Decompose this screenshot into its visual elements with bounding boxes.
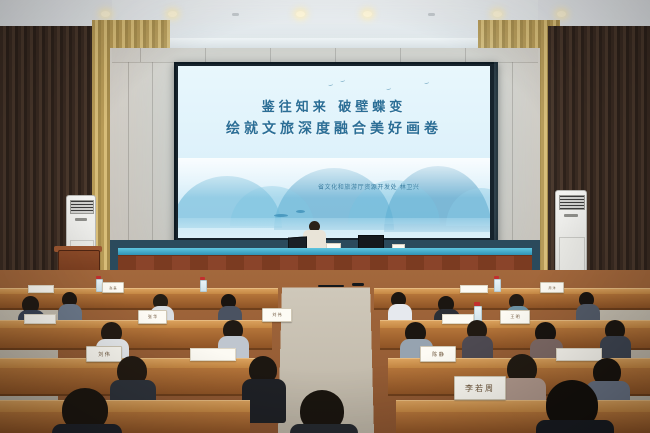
nameplate-row2-center: 刘 伟 — [262, 308, 292, 322]
nameplate-row3-right: 陈 静 — [420, 346, 456, 362]
nameplate-row2-right: 王 明 — [500, 310, 530, 324]
ceiling-panel — [112, 0, 538, 41]
water-bottle — [494, 279, 501, 292]
wall-seam — [140, 48, 141, 62]
wall-panel-right — [492, 48, 540, 263]
projection-screen[interactable]: 鉴往知来 破壁蝶变 绘就文旅深度融合美好画卷 省文化和旅游厅资源开发处 林卫兴 — [178, 66, 490, 238]
nameplate-text: 张 华 — [148, 314, 157, 320]
wall-seam — [335, 48, 336, 62]
ceiling-downlight-icon — [493, 11, 502, 17]
nameplate-text: 刘 伟 — [272, 312, 281, 318]
lecture-hall-photo: 鉴往知来 破壁蝶变 绘就文旅深度融合美好画卷 省文化和旅游厅资源开发处 林卫兴 — [0, 0, 650, 433]
handout-paper — [28, 285, 54, 293]
nameplate-text: 周 洋 — [549, 286, 556, 290]
handout-paper — [190, 348, 236, 361]
cable — [318, 285, 344, 287]
nameplate-foreground-right[interactable]: 李若周 — [454, 376, 506, 400]
water-bottle — [200, 280, 207, 292]
bottle-cap — [494, 276, 499, 279]
slide-title-line-2: 绘就文旅深度融合美好画卷 — [178, 118, 490, 138]
bottle-cap — [474, 302, 480, 306]
nameplate-row2-left: 张 华 — [138, 310, 167, 324]
bottle-cap — [96, 276, 101, 279]
boat-icon — [274, 214, 288, 217]
bird-icon — [424, 80, 430, 85]
handout-paper — [460, 285, 488, 293]
handout-paper — [24, 314, 56, 324]
bird-icon — [340, 78, 346, 83]
nameplate-text: 李若周 — [465, 383, 495, 394]
water-overlay — [178, 218, 490, 238]
mist-overlay — [178, 158, 490, 198]
handout-paper — [556, 348, 602, 361]
nameplate-text: 陈 静 — [432, 351, 444, 358]
wall-seam — [152, 62, 153, 242]
wall-seam — [465, 48, 466, 62]
ceiling-downlight-icon — [557, 11, 566, 17]
ceiling-downlight-icon — [363, 11, 372, 17]
slide-title-line-1: 鉴往知来 破壁蝶变 — [178, 96, 490, 115]
nameplate-row1-right: 周 洋 — [540, 282, 564, 293]
boat-icon — [296, 210, 305, 213]
bird-icon — [328, 82, 334, 87]
ceiling-downlight-icon — [168, 11, 177, 17]
nameplate-row1-left: 赵 磊 — [102, 282, 124, 293]
nameplate-text: 刘 伟 — [98, 351, 110, 358]
wall-top-band — [112, 48, 538, 63]
wall-seam — [512, 62, 513, 242]
ceiling-downlight-icon — [101, 11, 110, 17]
stage-desk-top — [118, 248, 532, 255]
bottle-cap — [200, 277, 205, 280]
audience-desk-foreground-left-front — [0, 412, 250, 433]
wall-panel-left — [110, 48, 176, 263]
ceiling-vent-icon — [232, 13, 239, 16]
wall-seam — [205, 48, 206, 62]
bird-icon — [386, 86, 392, 91]
nameplate-row3-left: 刘 伟 — [86, 346, 122, 362]
wall-seam — [128, 62, 129, 242]
wall-seam — [270, 48, 271, 62]
ceiling-vent-icon — [428, 13, 435, 16]
microphone-icon — [352, 283, 364, 286]
wall-seam — [400, 48, 401, 62]
slide-signature: 省文化和旅游厅资源开发处 林卫兴 — [318, 182, 486, 191]
nameplate-text: 王 明 — [510, 314, 519, 320]
ceiling-downlight-icon — [296, 11, 305, 17]
nameplate-text: 赵 磊 — [110, 286, 117, 290]
